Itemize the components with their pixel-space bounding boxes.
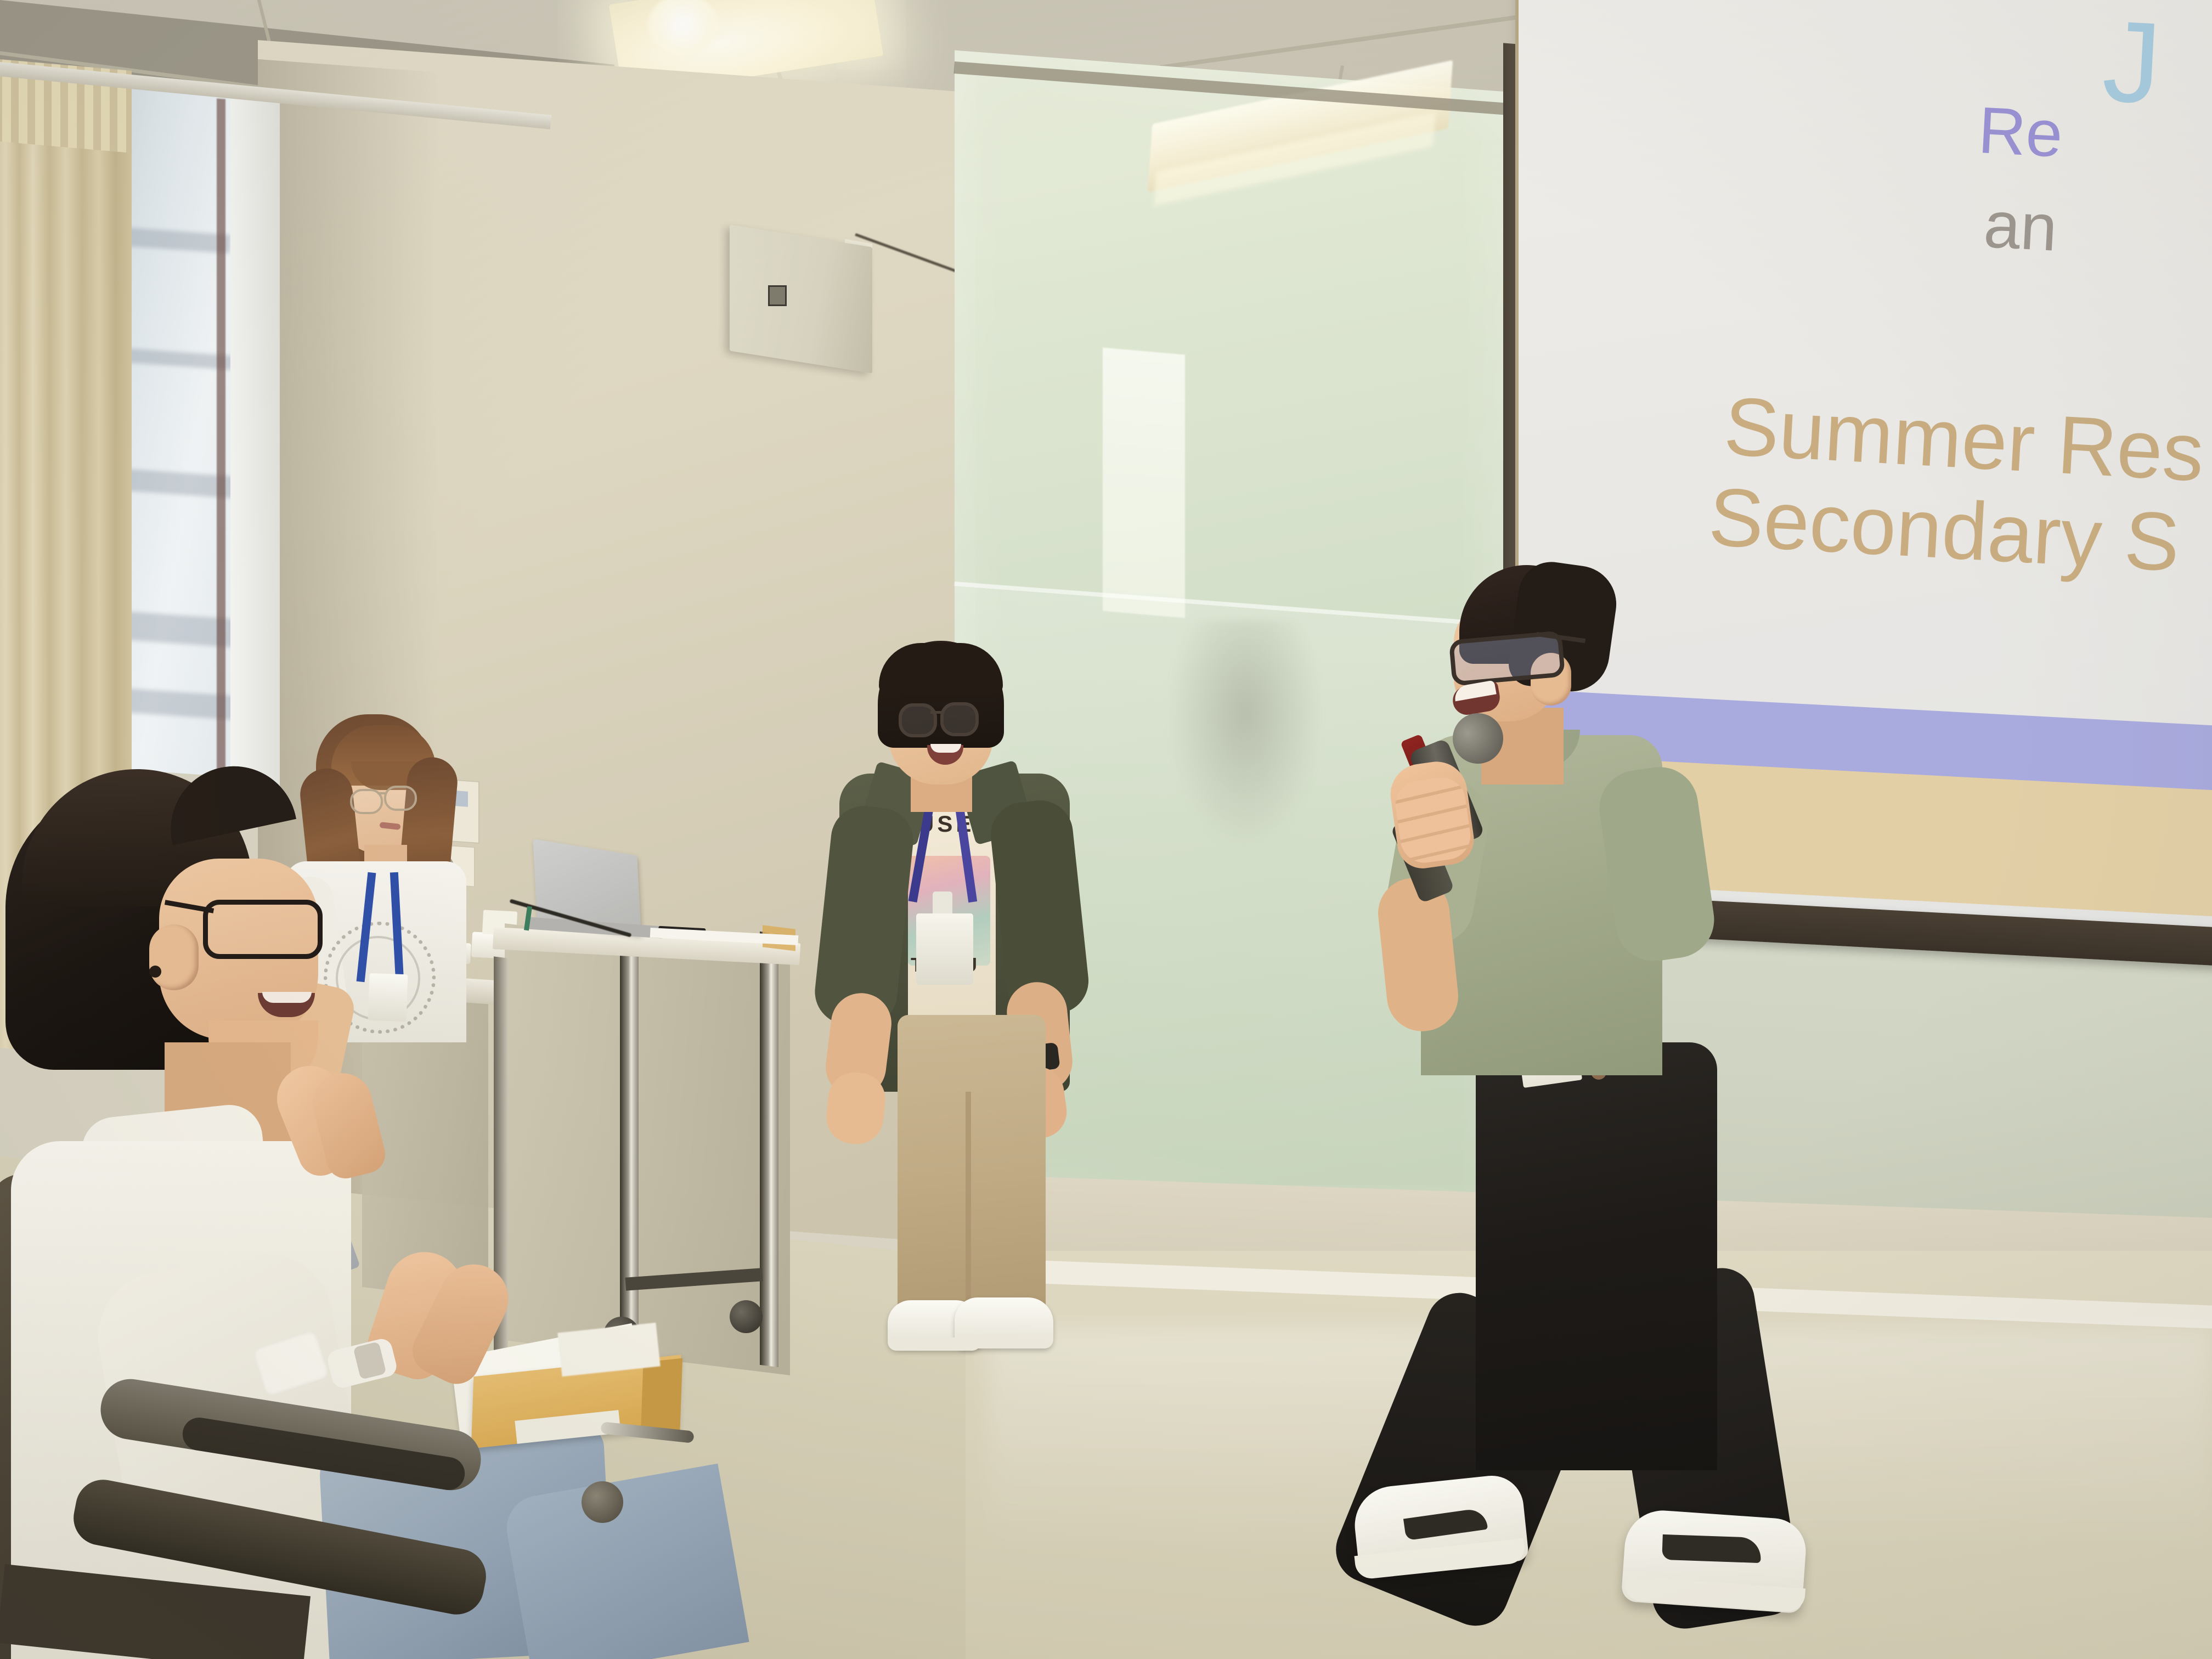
av-cart-rail — [760, 932, 778, 1367]
av-cart-rail — [620, 951, 639, 1375]
slide-arc-glyph: J — [2100, 0, 2162, 130]
woman-id-badge — [368, 973, 408, 1022]
window-mullion — [217, 98, 225, 779]
woman-glasses-bridge — [377, 792, 386, 794]
speaker-glasses — [1449, 630, 1566, 686]
speaker-trousers — [1476, 1042, 1717, 1470]
gift-box-side — [641, 1358, 682, 1435]
speaker-fingers — [1392, 775, 1474, 866]
seated-man-ear — [149, 924, 199, 990]
chair-adjust-knob[interactable] — [582, 1481, 623, 1523]
seated-man-earring — [149, 966, 161, 978]
speaker-shoe-swoosh-icon — [1662, 1534, 1761, 1563]
student-trousers — [898, 1015, 1046, 1322]
woman-glasses-right-lens — [384, 786, 417, 811]
seated-man-teeth — [262, 992, 312, 1003]
window-frame — [230, 86, 280, 792]
student-trousers-seam — [966, 1092, 971, 1322]
seated-man-glasses — [203, 900, 323, 959]
student-teeth — [930, 744, 961, 753]
student-glasses-right-lens — [940, 702, 979, 736]
wall-speaker-box — [730, 224, 872, 373]
student-shoe-sole-right — [955, 1335, 1053, 1348]
slide-subtitle-line1: Re — [1977, 92, 2064, 172]
speaker-grille-icon — [768, 285, 787, 306]
student-glasses-bridge — [930, 711, 941, 714]
av-cart-caster — [730, 1300, 763, 1333]
slide-subtitle-line2: an — [1982, 187, 2059, 266]
student-id-badge — [916, 913, 973, 985]
student-fringe — [879, 643, 1003, 695]
student-glasses-left-lens — [899, 703, 937, 737]
photo-scene: J Re an Summer Res Secondary S US — [0, 0, 2212, 1659]
glass-white-reflection — [1103, 347, 1185, 618]
